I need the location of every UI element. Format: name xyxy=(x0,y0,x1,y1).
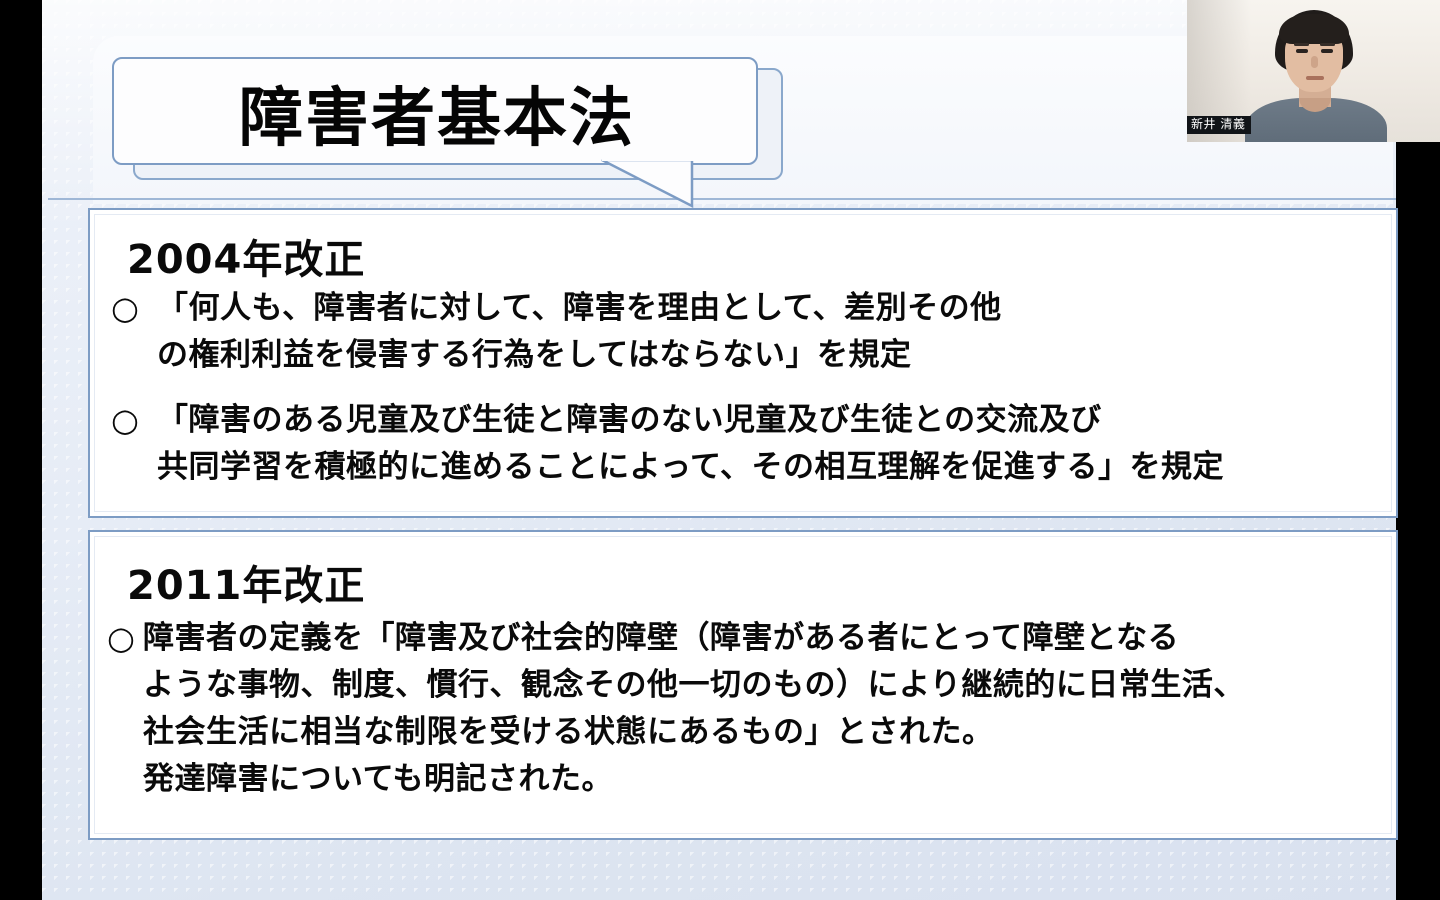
section-box-2011-inner: 2011年改正 ○ 障害者の定義を「障害及び社会的障壁（障害がある者にとって障壁… xyxy=(94,536,1392,834)
bullet-circle-icon: ○ xyxy=(111,397,157,444)
webcam-person-mouth xyxy=(1306,76,1324,80)
participant-name-label: 新井 清義 xyxy=(1187,116,1251,134)
title-bubble: 障害者基本法 xyxy=(112,57,758,165)
bullet-text: 障害者の定義を「障害及び社会的障壁（障害がある者にとって障壁となる ような事物、… xyxy=(143,615,1397,803)
bullet-text: 「障害のある児童及び生徒と障害のない児童及び生徒との交流及び 共同学習を積極的に… xyxy=(157,397,1381,491)
bullet-item: ○ 「障害のある児童及び生徒と障害のない児童及び生徒との交流及び 共同学習を積極… xyxy=(111,397,1381,491)
speech-bubble-tail-icon xyxy=(600,158,720,208)
bullet-item: ○ 「何人も、障害者に対して、障害を理由として、差別その他 の権利利益を侵害する… xyxy=(111,285,1381,379)
webcam-person-eyebrow-right xyxy=(1320,43,1335,46)
webcam-person-eye-left xyxy=(1296,49,1308,53)
page-title: 障害者基本法 xyxy=(114,59,760,167)
webcam-person-eye-right xyxy=(1321,49,1333,53)
webcam-person-fringe xyxy=(1279,14,1349,44)
section-box-2011: 2011年改正 ○ 障害者の定義を「障害及び社会的障壁（障害がある者にとって障壁… xyxy=(88,530,1398,840)
section-box-2004: 2004年改正 ○ 「何人も、障害者に対して、障害を理由として、差別その他 の権… xyxy=(88,208,1398,518)
screen: 障害者基本法 2004年改正 ○ 「何人も、障害者に対して、障害を理由として、差… xyxy=(0,0,1440,900)
bullet-circle-icon: ○ xyxy=(111,285,157,332)
webcam-person-eyebrow-left xyxy=(1294,43,1309,46)
webcam-video-tile[interactable]: 新井 清義 xyxy=(1187,0,1440,142)
title-divider-rule xyxy=(48,198,1396,200)
bullet-item: ○ 障害者の定義を「障害及び社会的障壁（障害がある者にとって障壁となる ような事… xyxy=(107,615,1397,803)
section-heading-2011: 2011年改正 xyxy=(127,553,365,611)
webcam-person-nose xyxy=(1311,56,1318,68)
section-box-2004-inner: 2004年改正 ○ 「何人も、障害者に対して、障害を理由として、差別その他 の権… xyxy=(94,214,1392,512)
bullet-circle-icon: ○ xyxy=(107,615,143,662)
section-heading-2004: 2004年改正 xyxy=(127,227,365,285)
bullet-text: 「何人も、障害者に対して、障害を理由として、差別その他 の権利利益を侵害する行為… xyxy=(157,285,1381,379)
